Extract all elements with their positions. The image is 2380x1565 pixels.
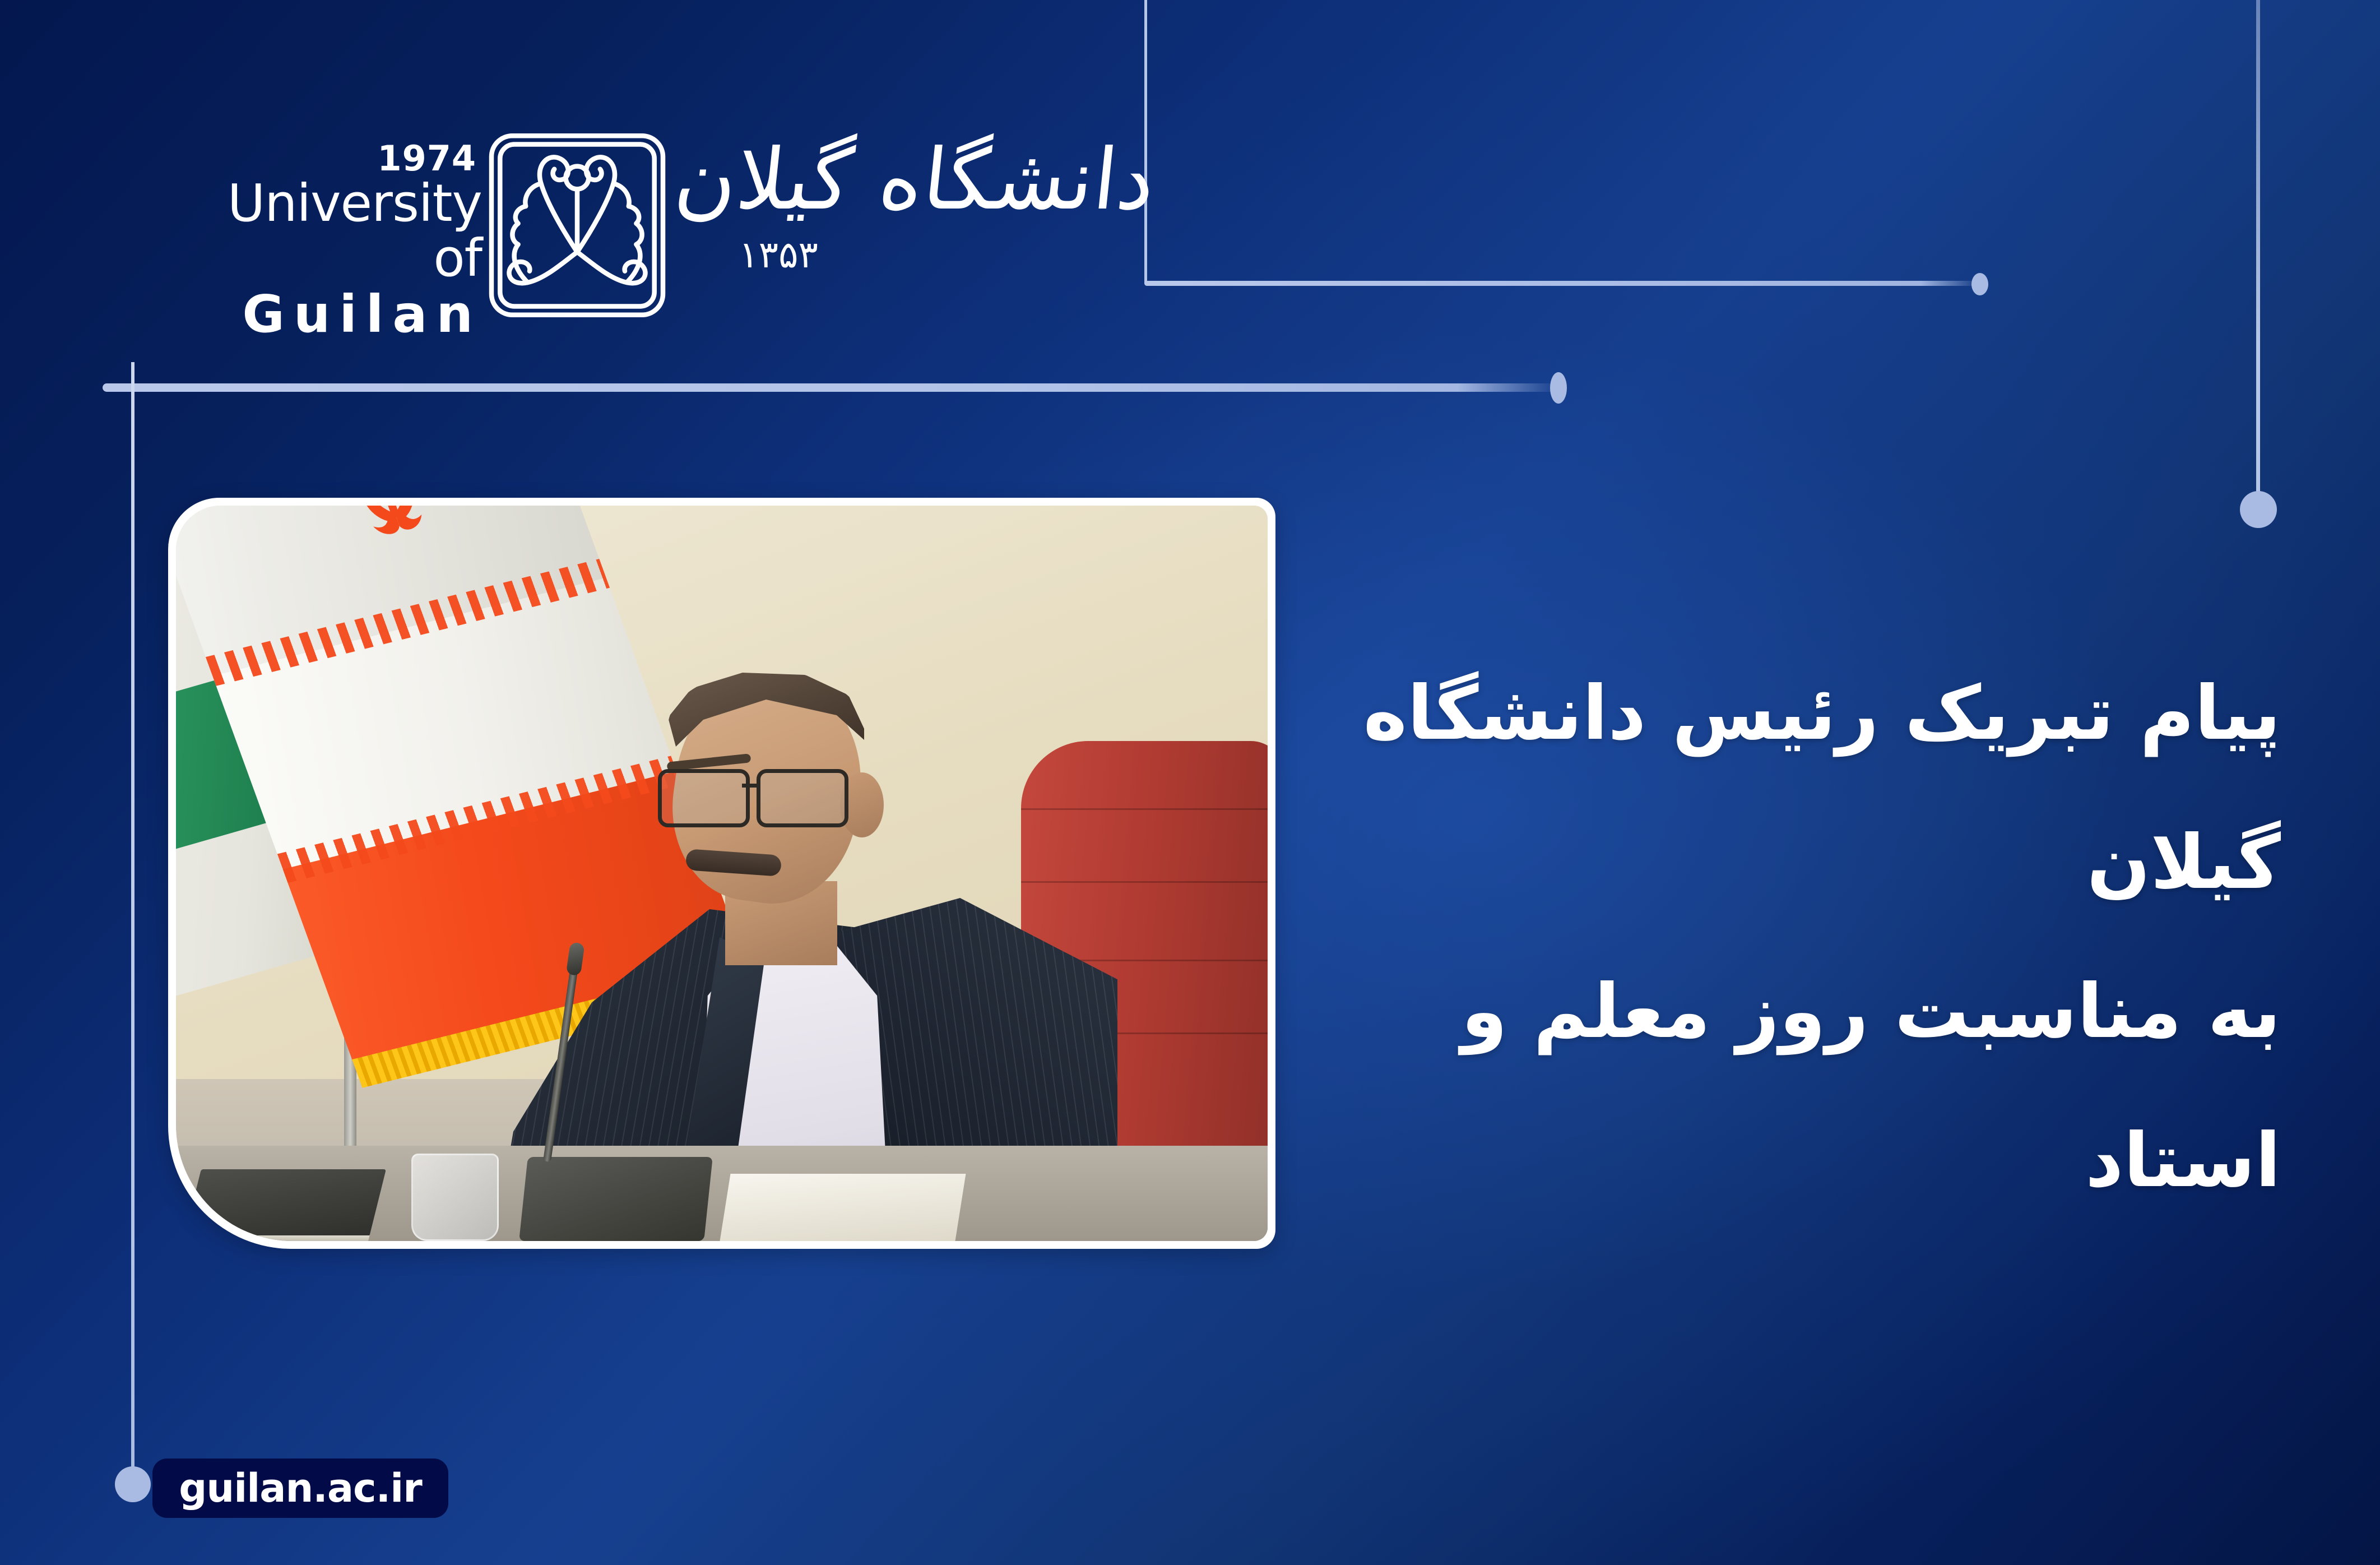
page-title: پیام تبریک رئیس دانشگاه گیلان به مناسبت … xyxy=(1306,639,2281,1235)
guilan-butterfly-emblem-icon xyxy=(482,130,672,321)
website-url-badge[interactable]: guilan.ac.ir xyxy=(152,1458,448,1518)
headline-line-1: پیام تبریک رئیس دانشگاه گیلان xyxy=(1363,670,2281,906)
eyeglasses-icon xyxy=(658,769,854,821)
water-glass xyxy=(411,1154,499,1241)
right-vertical-accent-line xyxy=(2256,0,2260,492)
right-vertical-line-dot xyxy=(2240,491,2277,528)
logo-persian-block: دانشگاه گیلان ۱۳۵۳ xyxy=(661,123,1154,342)
poster-canvas: 1974 University of Guilan دان xyxy=(0,0,2380,1565)
desk-surface xyxy=(176,1146,1268,1241)
left-vertical-line-dot xyxy=(115,1466,151,1502)
mid-horizontal-accent-line xyxy=(103,383,1560,392)
logo-english-block: 1974 University of Guilan xyxy=(168,141,482,343)
logo-name-line1-english: University of xyxy=(168,176,482,285)
logo-year-persian: ۱۳۵۳ xyxy=(739,233,818,276)
microphone-base xyxy=(519,1157,713,1241)
website-url-text: guilan.ac.ir xyxy=(179,1465,421,1511)
top-right-line-dot xyxy=(1971,273,1988,295)
desk-papers xyxy=(720,1174,966,1241)
logo-name-line2-english: Guilan xyxy=(168,285,482,343)
president-photo-frame xyxy=(168,498,1275,1249)
logo-year-english: 1974 xyxy=(168,141,476,176)
top-right-horizontal-line xyxy=(1144,281,1979,286)
president-photo xyxy=(176,506,1268,1241)
left-vertical-accent-line xyxy=(131,362,134,1480)
university-logo: 1974 University of Guilan دان xyxy=(168,118,1154,348)
desk-book xyxy=(184,1169,386,1237)
headline-line-2: به مناسبت روز معلم و استاد xyxy=(1306,937,2281,1235)
mid-horizontal-line-dot xyxy=(1550,372,1567,404)
logo-name-persian: دانشگاه گیلان xyxy=(671,138,1159,222)
